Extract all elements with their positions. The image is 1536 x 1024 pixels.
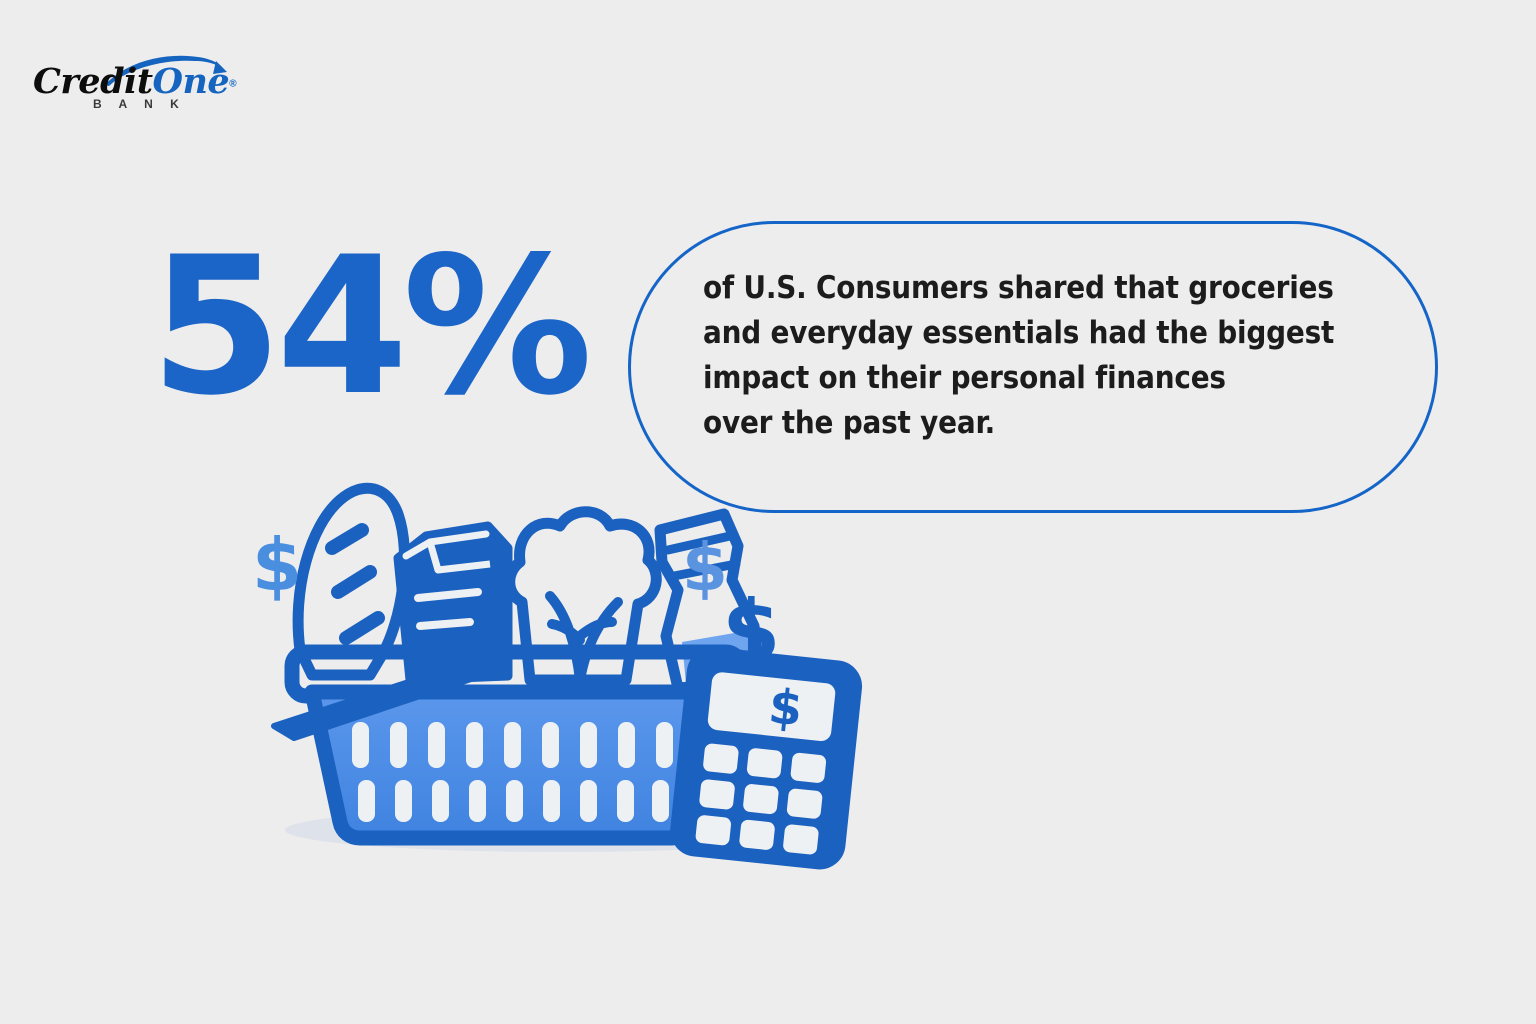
dollar-sign-lower-right-icon: $ bbox=[722, 582, 780, 680]
logo-word-credit: Credit bbox=[33, 61, 153, 102]
registered-trademark-icon: ® bbox=[229, 79, 236, 90]
infographic-canvas: CreditOne® B A N K 54% of U.S. Consumers… bbox=[0, 0, 1536, 1024]
stat-percentage: 54% bbox=[150, 232, 587, 422]
callout-line-1: of U.S. Consumers shared that groceries bbox=[703, 266, 1423, 311]
calculator-display-dollar-icon: $ bbox=[766, 679, 805, 738]
callout-text: of U.S. Consumers shared that groceries … bbox=[703, 266, 1423, 446]
dollar-sign-left-icon: $ bbox=[252, 523, 302, 607]
credit-one-bank-logo: CreditOne® B A N K bbox=[33, 47, 233, 113]
logo-subtitle-bank: B A N K bbox=[93, 97, 186, 111]
calculator-icon: $ bbox=[674, 651, 858, 865]
logo-wordmark: CreditOne® bbox=[33, 61, 237, 102]
logo-word-one: One bbox=[153, 61, 230, 102]
grocery-basket-illustration: $ $ $ $ bbox=[230, 430, 880, 870]
calculator-buttons bbox=[695, 743, 827, 855]
callout-line-2: and everyday essentials had the biggest bbox=[703, 311, 1423, 356]
callout-line-3: impact on their personal finances bbox=[703, 356, 1423, 401]
